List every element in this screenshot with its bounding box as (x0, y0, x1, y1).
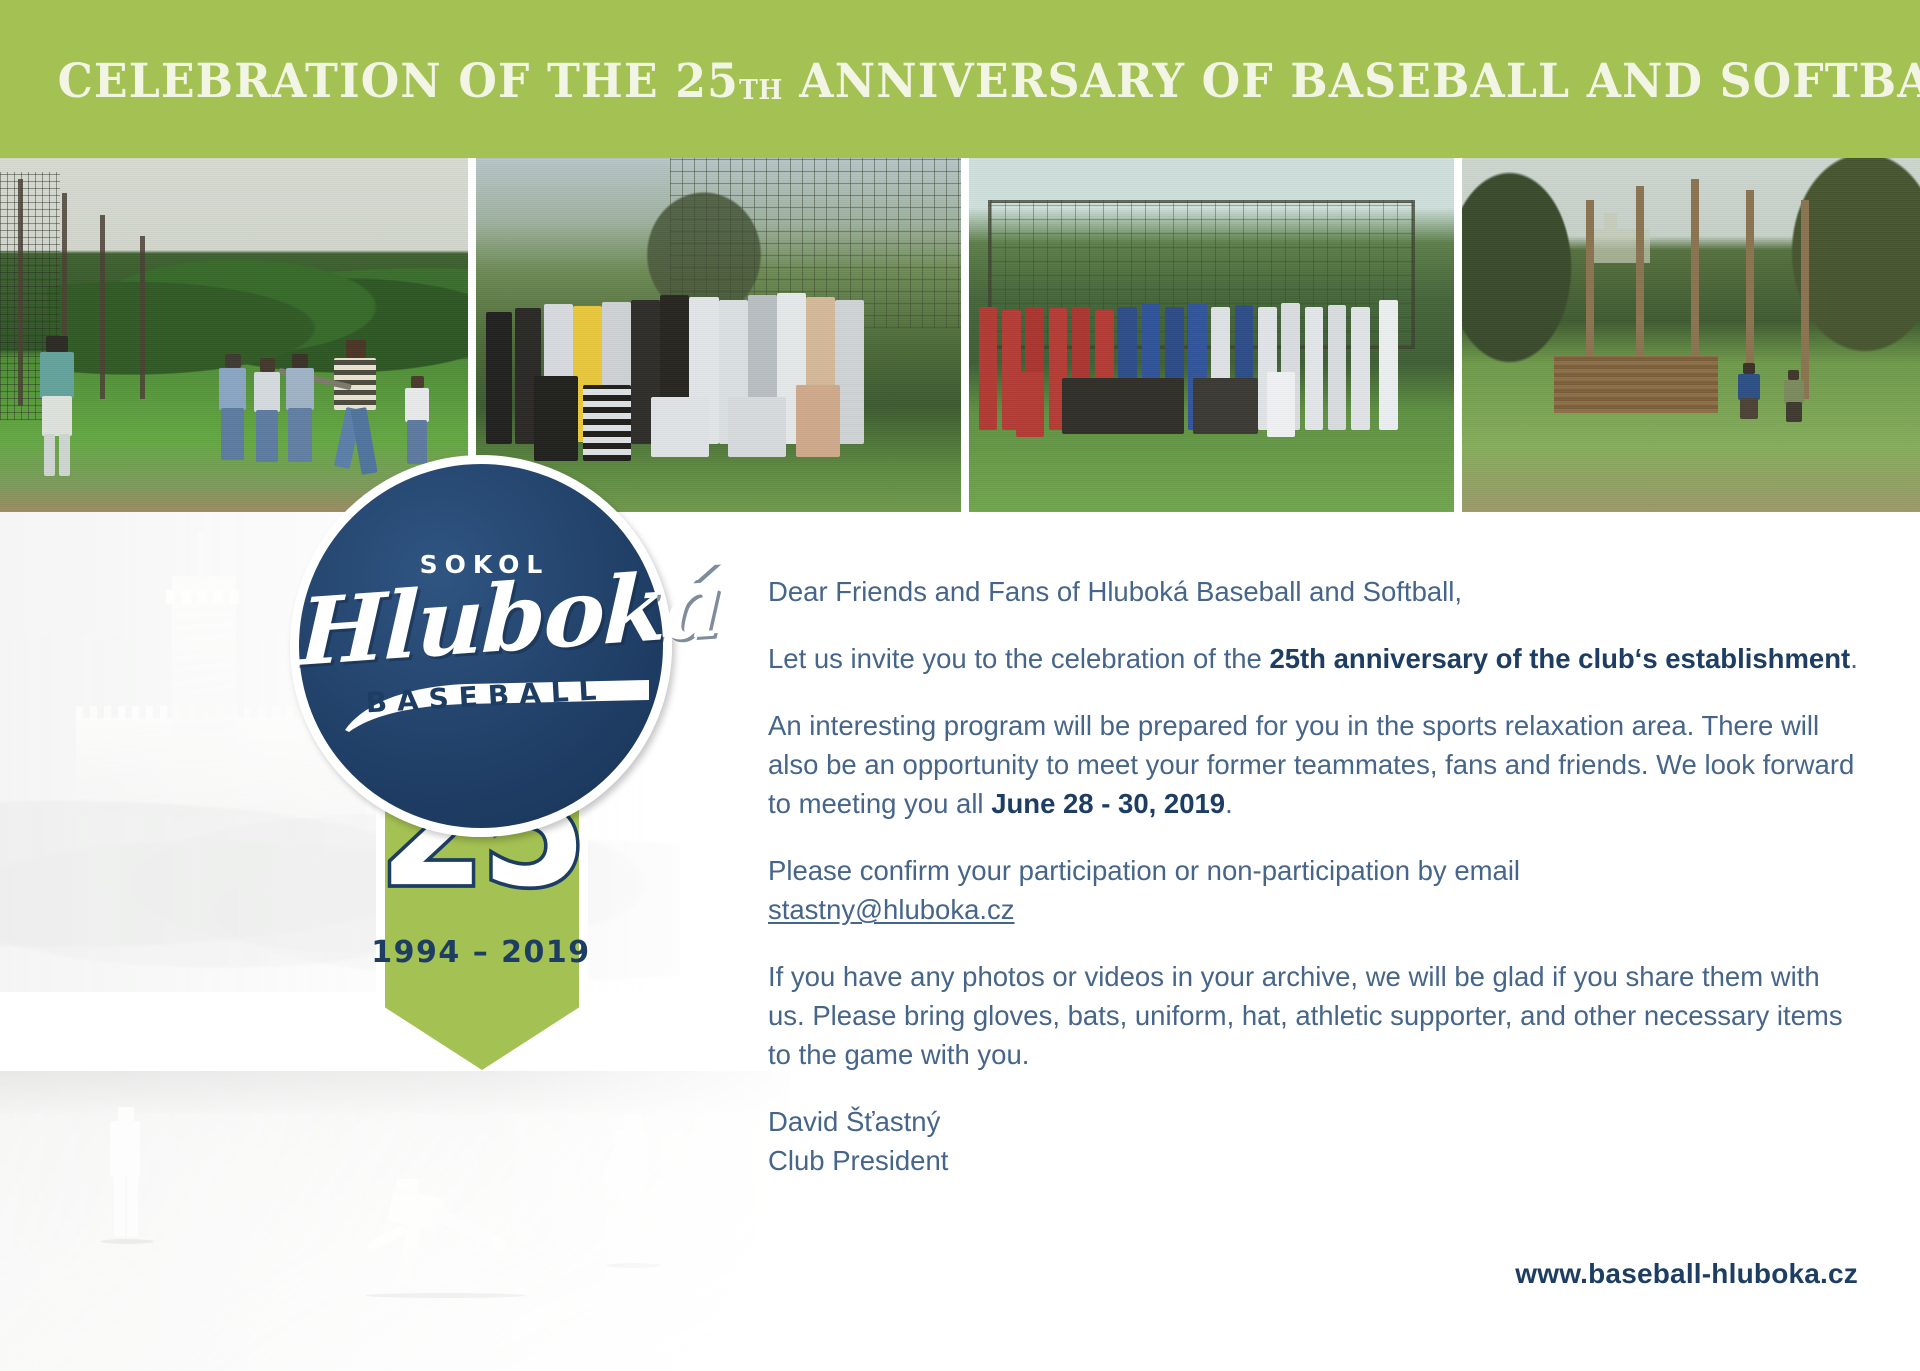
poster-root: CELEBRATION OF THE 25TH ANNIVERSARY OF B… (0, 0, 1920, 1371)
photo4-post-5 (1801, 200, 1809, 398)
page-title-part2: ANNIVERSARY OF BASEBALL AND SOFTBALL (783, 54, 1920, 109)
photo1-figure-child (404, 376, 430, 464)
signature-name: David Šťastný (768, 1106, 940, 1137)
contact-email-link[interactable]: stastny@hluboka.cz (768, 894, 1015, 925)
letter-paragraph-confirm: Please confirm your participation or non… (768, 851, 1858, 929)
club-logo-badge: 25 1994 – 2019 SOKOL Hluboká BASEBALL (290, 455, 672, 1115)
signature-role: Club President (768, 1145, 948, 1176)
invite-text-bold: 25th anniversary of the club‘s establish… (1269, 643, 1850, 674)
photo4-left-trees (1462, 158, 1581, 377)
website-url[interactable]: www.baseball-hluboka.cz (768, 1258, 1858, 1290)
letter-paragraph-archive: If you have any photos or videos in your… (768, 957, 1858, 1074)
letter-signature: David ŠťastnýClub President (768, 1102, 1858, 1180)
photo1-pole-3 (100, 215, 105, 399)
anniversary-years: 1994 – 2019 (290, 935, 672, 970)
page-title-superscript: TH (739, 75, 783, 106)
photo1-figure-onlooker-3 (284, 354, 316, 462)
invite-text-c: . (1850, 643, 1858, 674)
letter-body: Dear Friends and Fans of Hluboká Basebal… (768, 572, 1858, 1208)
photo-big-team (969, 158, 1454, 512)
photo1-figure-onlooker-2 (252, 358, 282, 462)
logo-hluboka-script: Hluboká (298, 561, 664, 679)
page-title: CELEBRATION OF THE 25TH ANNIVERSARY OF B… (58, 58, 1863, 105)
photo1-pole-1 (18, 179, 23, 406)
invite-text-a: Let us invite you to the celebration of … (768, 643, 1269, 674)
letter-salutation: Dear Friends and Fans of Hluboká Basebal… (768, 572, 1858, 611)
photo4-worker-2 (1783, 370, 1805, 422)
photo1-figure-onlooker-1 (216, 354, 248, 460)
logo-circle: SOKOL Hluboká BASEBALL (290, 455, 672, 837)
program-text-c: . (1225, 788, 1233, 819)
program-dates-bold: June 28 - 30, 2019 (991, 788, 1225, 819)
letter-paragraph-program: An interesting program will be prepared … (768, 706, 1858, 823)
photo4-wood-wall (1554, 356, 1719, 413)
header-band: CELEBRATION OF THE 25TH ANNIVERSARY OF B… (0, 0, 1920, 158)
photo-backstop-construction (1462, 158, 1920, 512)
photo1-pole-4 (140, 236, 145, 399)
photo-strip (0, 158, 1920, 512)
photo3-team-rows (979, 307, 1445, 470)
page-title-part1: CELEBRATION OF THE 25 (58, 54, 739, 109)
program-text-a: An interesting program will be prepared … (768, 710, 1854, 819)
photo4-worker-1 (1737, 363, 1761, 419)
letter-paragraph-invite: Let us invite you to the celebration of … (768, 639, 1858, 678)
confirm-text: Please confirm your participation or non… (768, 855, 1520, 886)
photo1-figure-catcher (34, 336, 80, 476)
